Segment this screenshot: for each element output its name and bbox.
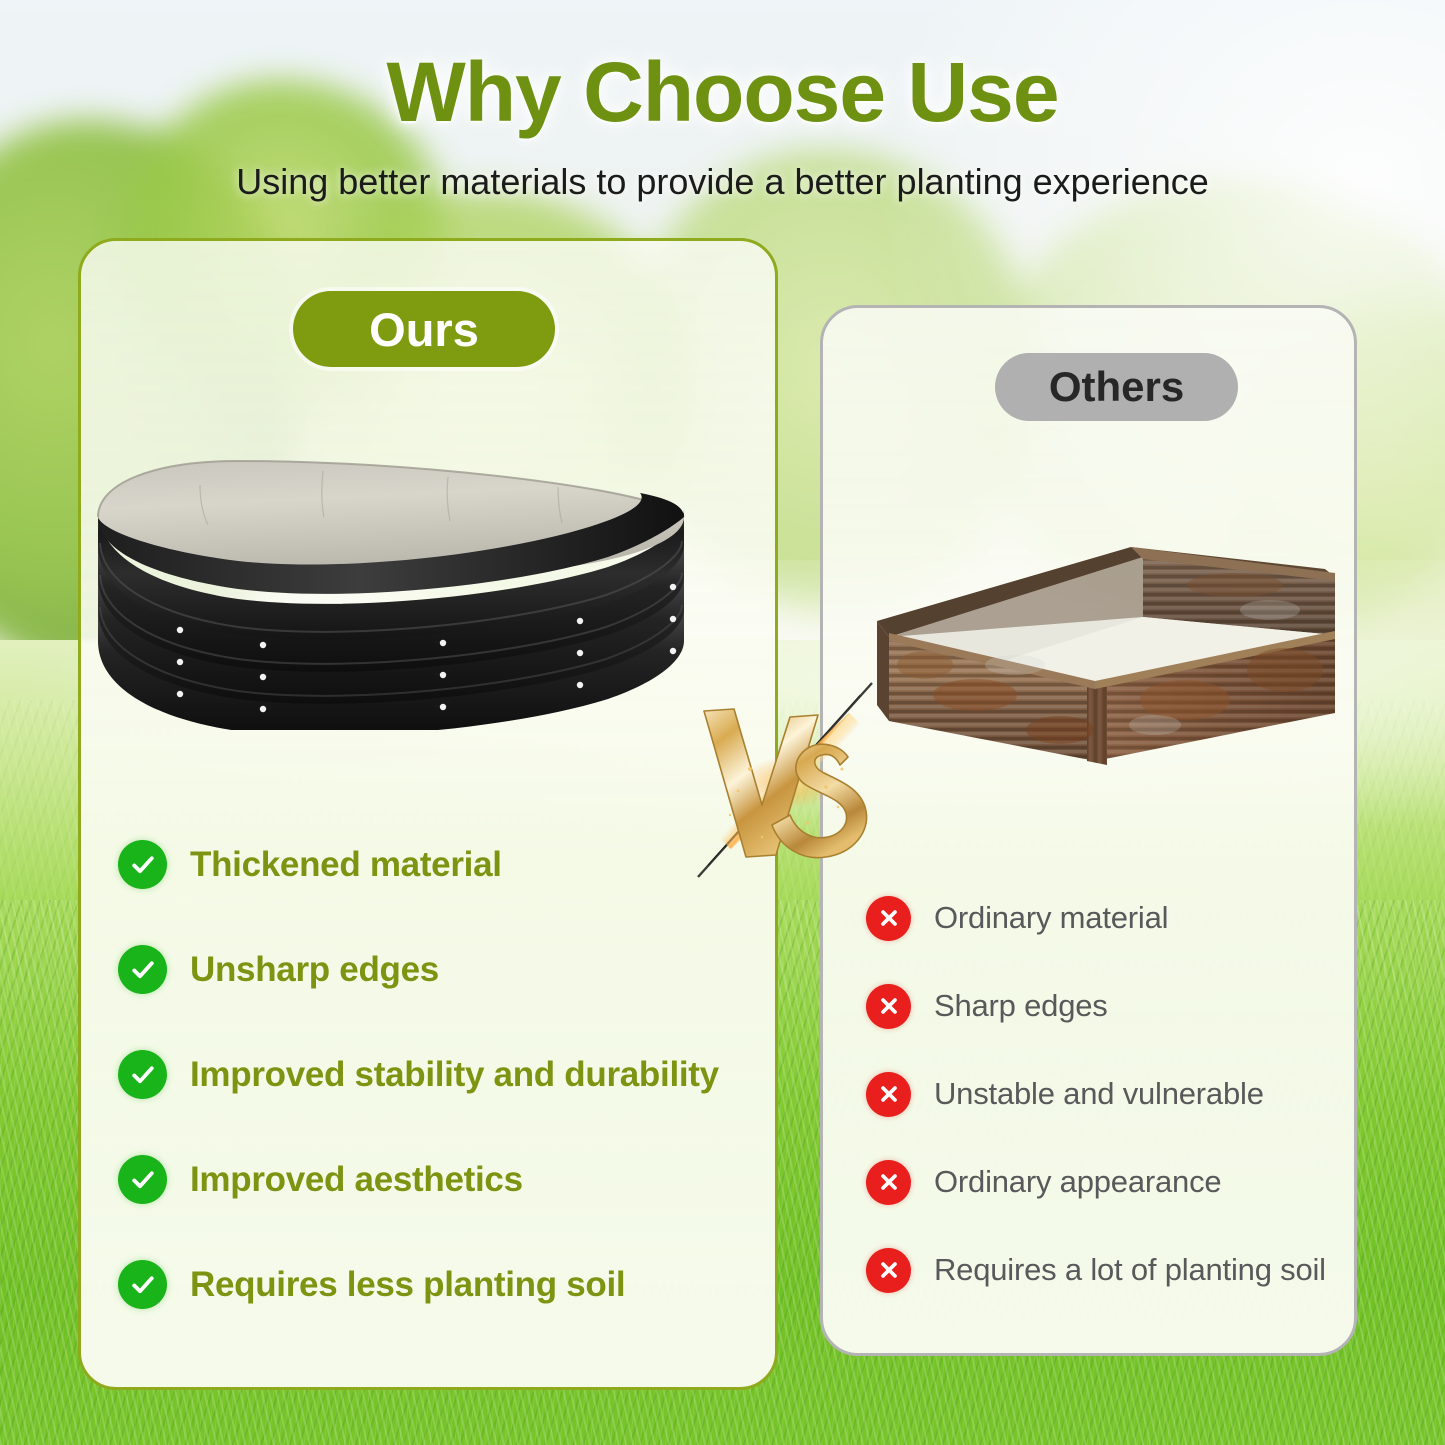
x-circle-icon	[866, 1072, 911, 1117]
others-badge: Others	[995, 353, 1238, 421]
page-title: Why Choose Use	[0, 44, 1445, 141]
others-feature-list: Ordinary material Sharp edges Unstable a…	[866, 874, 1366, 1314]
list-item: Thickened material	[118, 812, 758, 917]
header: Why Choose Use Using better materials to…	[0, 0, 1445, 203]
check-circle-icon	[118, 840, 167, 889]
list-item: Unstable and vulnerable	[866, 1050, 1366, 1138]
list-item: Ordinary material	[866, 874, 1366, 962]
ours-feature-list: Thickened material Unsharp edges Improve…	[118, 812, 758, 1337]
check-circle-icon	[118, 1155, 167, 1204]
others-product-image	[855, 525, 1355, 775]
list-item-label: Sharp edges	[934, 988, 1108, 1024]
x-circle-icon	[866, 1248, 911, 1293]
list-item-label: Improved aesthetics	[190, 1160, 523, 1200]
list-item-label: Ordinary material	[934, 900, 1168, 936]
ours-product-image	[88, 455, 718, 730]
list-item-label: Improved stability and durability	[190, 1055, 719, 1095]
list-item-label: Requires a lot of planting soil	[934, 1252, 1326, 1288]
x-circle-icon	[866, 984, 911, 1029]
list-item-label: Unsharp edges	[190, 950, 439, 990]
list-item-label: Unstable and vulnerable	[934, 1076, 1264, 1112]
infographic-scene: Why Choose Use Using better materials to…	[0, 0, 1445, 1445]
list-item: Sharp edges	[866, 962, 1366, 1050]
list-item-label: Requires less planting soil	[190, 1265, 625, 1305]
list-item: Improved stability and durability	[118, 1022, 758, 1127]
x-circle-icon	[866, 1160, 911, 1205]
check-circle-icon	[118, 1050, 167, 1099]
check-circle-icon	[118, 945, 167, 994]
list-item: Requires a lot of planting soil	[866, 1226, 1366, 1314]
x-circle-icon	[866, 896, 911, 941]
list-item: Unsharp edges	[118, 917, 758, 1022]
ours-badge: Ours	[293, 291, 555, 367]
list-item: Improved aesthetics	[118, 1127, 758, 1232]
check-circle-icon	[118, 1260, 167, 1309]
list-item-label: Thickened material	[190, 845, 502, 885]
list-item-label: Ordinary appearance	[934, 1164, 1221, 1200]
page-subtitle: Using better materials to provide a bett…	[0, 161, 1445, 203]
list-item: Ordinary appearance	[866, 1138, 1366, 1226]
list-item: Requires less planting soil	[118, 1232, 758, 1337]
